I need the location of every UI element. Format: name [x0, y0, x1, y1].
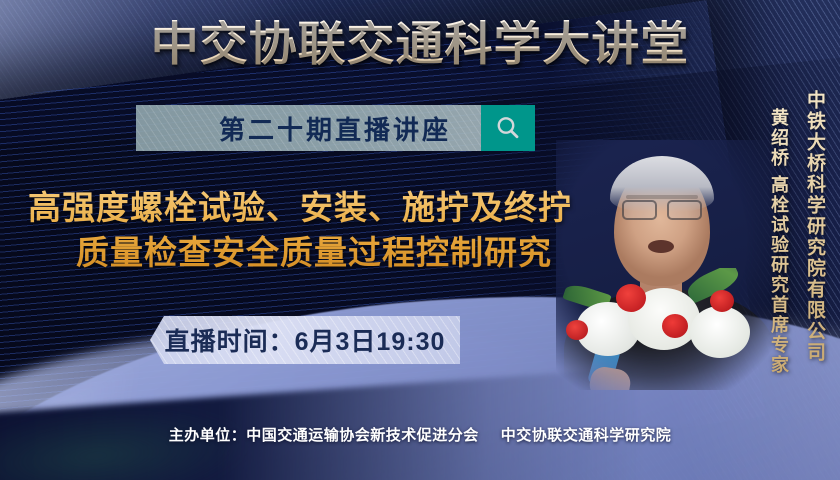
white-lily [690, 306, 750, 358]
red-carnation [662, 314, 688, 338]
photo-brow [626, 195, 698, 199]
footer-label: 主办单位： [169, 427, 247, 444]
footer-org-2: 中交协联交通科学研究院 [501, 427, 672, 444]
speaker-organization: 中铁大桥科学研究院有限公司 [801, 90, 828, 363]
subtitle-banner: 第二十期直播讲座 [136, 105, 535, 151]
live-time-label: 直播时间：6月3日19:30 [165, 322, 446, 358]
flower-bouquet [558, 268, 788, 388]
footer-organizers: 主办单位：中国交通运输协会新技术促进分会中交协联交通科学研究院 [0, 424, 840, 445]
speaker-name-and-role: 黄绍桥 高栓试验研究首席专家 [766, 108, 792, 375]
search-icon[interactable] [481, 105, 535, 151]
page-title: 中交协联交通科学大讲堂 [0, 20, 840, 67]
topic-line-2: 质量检查安全质量过程控制研究 [0, 231, 600, 276]
photo-mouth [648, 240, 674, 253]
red-carnation [566, 320, 588, 340]
live-lecture-poster: 中交协联交通科学大讲堂 第二十期直播讲座 高强度螺栓试验、安装、施拧及终拧 质量… [0, 0, 840, 480]
subtitle-banner-body: 第二十期直播讲座 [136, 105, 481, 151]
photo-glasses [622, 200, 702, 217]
live-time-badge: 直播时间：6月3日19:30 [150, 316, 460, 364]
topic-line-1: 高强度螺栓试验、安装、施拧及终拧 [0, 186, 600, 231]
subtitle-banner-label: 第二十期直播讲座 [219, 110, 481, 147]
footer-org-1: 中国交通运输协会新技术促进分会 [246, 427, 479, 444]
lecture-topic: 高强度螺栓试验、安装、施拧及终拧 质量检查安全质量过程控制研究 [0, 186, 600, 275]
red-carnation [616, 284, 646, 312]
red-carnation [710, 290, 734, 312]
